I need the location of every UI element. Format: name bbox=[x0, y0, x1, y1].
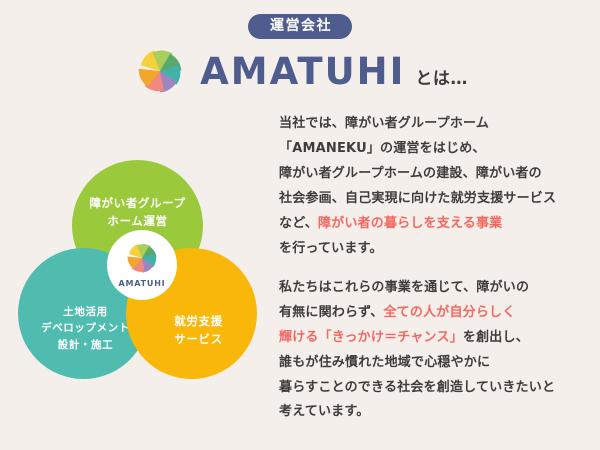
copy-highlight: 障がい者の暮らしを支える事業 bbox=[318, 216, 502, 231]
copy-line: 暮らすことのできる社会を創造していきたいと bbox=[279, 380, 555, 395]
label-line: デベロップメント bbox=[41, 322, 130, 334]
paragraph-spacer bbox=[279, 262, 591, 276]
paragraph-2: 私たちはこれらの事業を通じて、障がいの 有無に関わらず、全ての人が自分らしく 輝… bbox=[279, 276, 591, 426]
label-line: 就労支援 bbox=[174, 314, 222, 328]
amatuhi-pinwheel-logo-icon bbox=[132, 43, 188, 99]
copy-line: など、 bbox=[279, 216, 318, 231]
label-line: ホーム運営 bbox=[107, 214, 167, 228]
label-line: 障がい者グループ bbox=[89, 196, 185, 210]
brand-suffix: とは… bbox=[415, 54, 468, 89]
venn-circle-land-development-label: 土地活用 デベロップメント 設計・施工 bbox=[41, 304, 130, 353]
copy-highlight: 輝ける「きっかけ＝チャンス」 bbox=[279, 330, 463, 345]
business-venn-diagram: 障がい者グループ ホーム運営 土地活用 デベロップメント 設計・施工 就労支援 … bbox=[10, 160, 265, 395]
copy-line: 私たちはこれらの事業を通じて、障がいの bbox=[279, 280, 529, 295]
copy-line: 当社では、障がい者グループホーム bbox=[279, 116, 489, 131]
paragraph-1: 当社では、障がい者グループホーム 「AMANEKU」の運営をはじめ、 障がい者グ… bbox=[279, 112, 591, 262]
copy-line: 誰もが住み慣れた地域で心穏やかに bbox=[279, 355, 490, 370]
copy-line: 「AMANEKU」の運営をはじめ、 bbox=[279, 141, 486, 156]
venn-center-label: AMATUHI bbox=[119, 278, 166, 290]
venn-circle-employment-support-label: 就労支援 サービス bbox=[174, 313, 222, 349]
copy-line: を創出し、 bbox=[463, 330, 529, 345]
operating-company-badge: 運営会社 bbox=[248, 14, 352, 39]
copy-highlight: 全ての人が自分らしく bbox=[383, 305, 515, 320]
venn-circle-group-home-label: 障がい者グループ ホーム運営 bbox=[89, 195, 185, 231]
copy-line: を行っています。 bbox=[279, 241, 383, 256]
venn-center-brand-node: AMATUHI bbox=[107, 230, 177, 300]
label-line: 設計・施工 bbox=[58, 339, 114, 351]
amatuhi-pinwheel-logo-icon bbox=[123, 239, 161, 277]
copy-line: 障がい者グループホームの建設、障がい者の bbox=[279, 166, 542, 181]
copy-line: 社会参画、自己実現に向けた就労支援サービス bbox=[279, 191, 556, 206]
brand-title-row: AMATUHI とは… bbox=[0, 43, 600, 99]
header-badge-row: 運営会社 bbox=[0, 14, 600, 39]
brand-wordmark: AMATUHI bbox=[200, 53, 405, 90]
label-line: 土地活用 bbox=[63, 306, 107, 318]
copy-line: 有無に関わらず、 bbox=[279, 305, 383, 320]
copy-line: 考えています。 bbox=[279, 404, 369, 419]
company-description: 当社では、障がい者グループホーム 「AMANEKU」の運営をはじめ、 障がい者グ… bbox=[279, 112, 591, 425]
label-line: サービス bbox=[174, 332, 222, 346]
